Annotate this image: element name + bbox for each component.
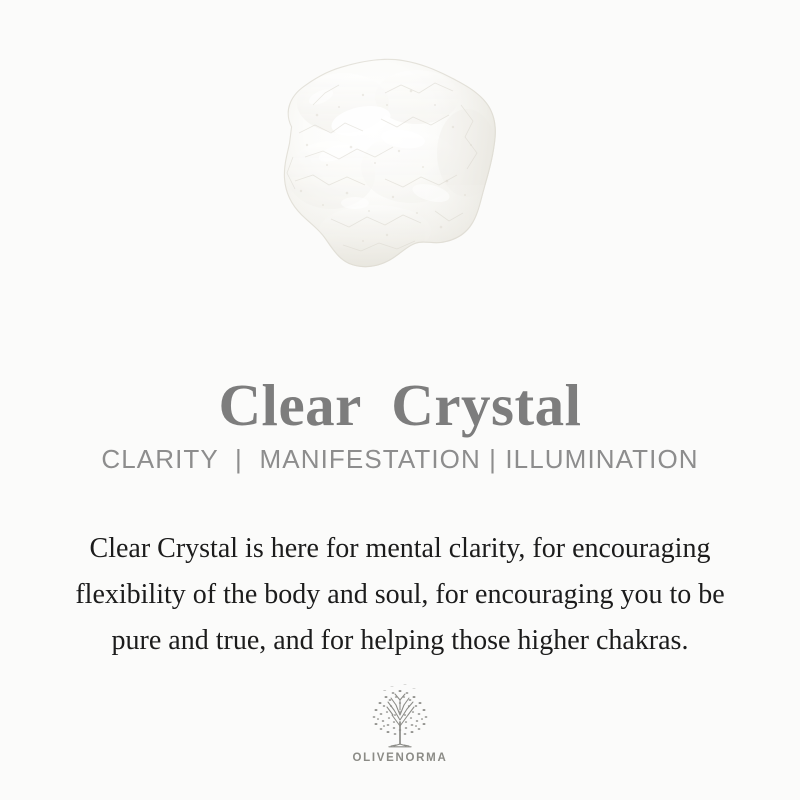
brand-wordmark: OLIVENORMA (353, 752, 448, 764)
olive-tree-icon (357, 682, 443, 750)
keyword-subtitle: CLARITY | MANIFESTATION | ILLUMINATION (0, 443, 800, 476)
brand-logo: OLIVENORMA (0, 682, 800, 764)
product-image-region (0, 0, 800, 320)
product-info-card: Clear Crystal CLARITY | MANIFESTATION | … (0, 0, 800, 800)
clear-crystal-image (235, 35, 535, 295)
page-title: Clear Crystal (0, 374, 800, 438)
product-description: Clear Crystal is here for mental clarity… (50, 526, 750, 664)
